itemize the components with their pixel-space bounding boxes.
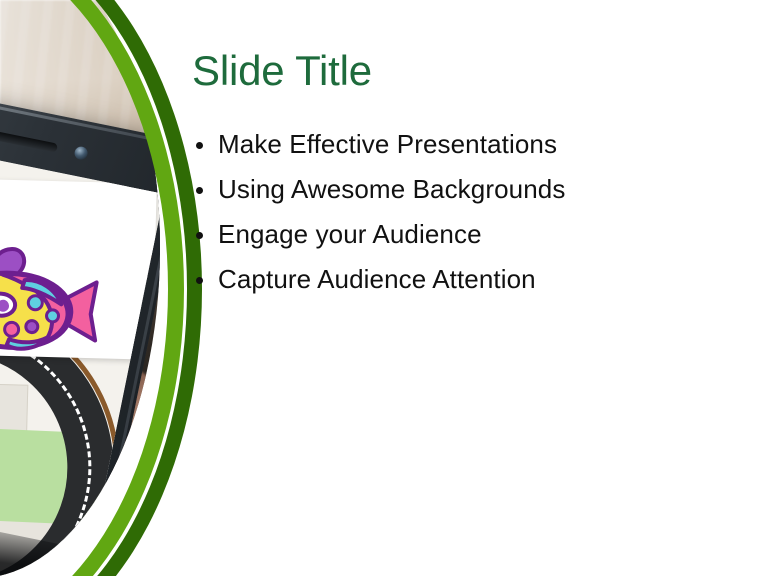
bullet-list: Make Effective Presentations Using Aweso… bbox=[192, 122, 752, 302]
list-item: Engage your Audience bbox=[192, 212, 752, 257]
page-title: Slide Title bbox=[192, 48, 372, 93]
list-item: Using Awesome Backgrounds bbox=[192, 167, 752, 212]
list-item: Make Effective Presentations bbox=[192, 122, 752, 167]
list-item: Capture Audience Attention bbox=[192, 257, 752, 302]
cartoon-creature-icon bbox=[0, 238, 105, 369]
smartphone bbox=[0, 82, 189, 576]
slide-canvas: Slide Title Make Effective Presentations… bbox=[0, 0, 768, 576]
